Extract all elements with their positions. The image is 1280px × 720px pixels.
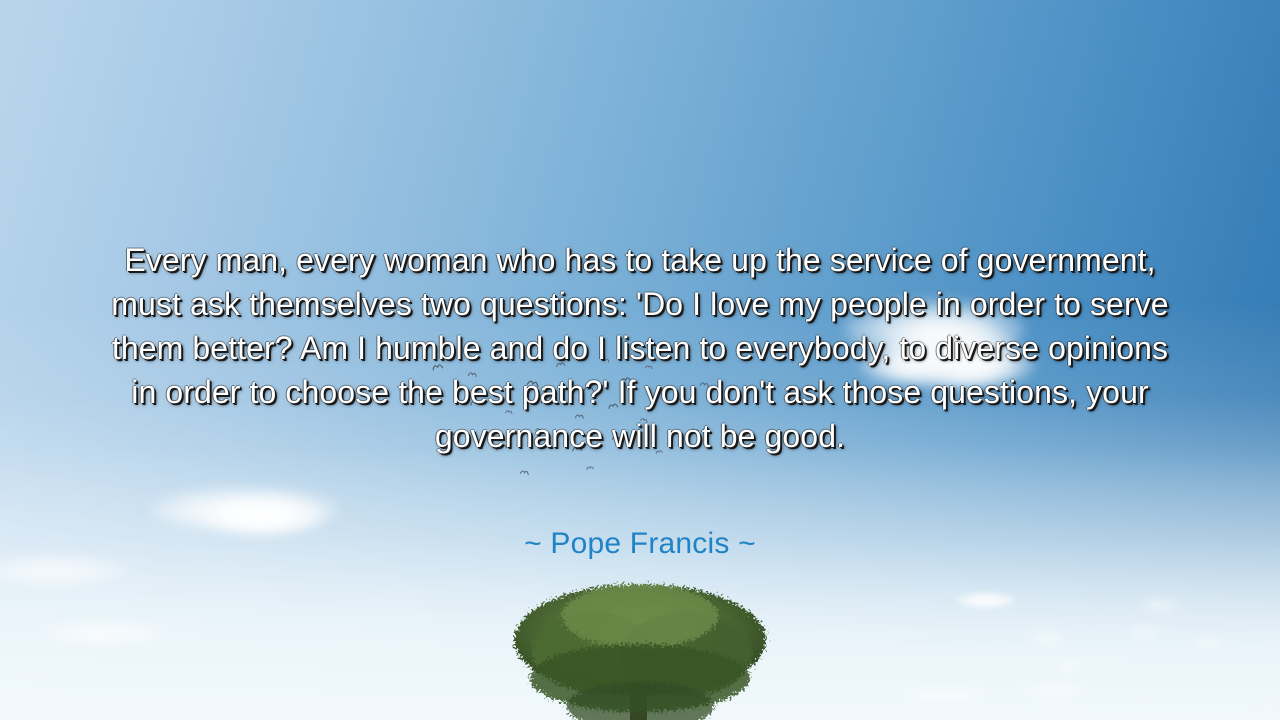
quote-block: Every man, every woman who has to take u… — [110, 238, 1170, 458]
quote-text: Every man, every woman who has to take u… — [110, 238, 1170, 458]
quote-card: Every man, every woman who has to take u… — [0, 0, 1280, 720]
quote-attribution: ~ Pope Francis ~ — [110, 524, 1170, 564]
